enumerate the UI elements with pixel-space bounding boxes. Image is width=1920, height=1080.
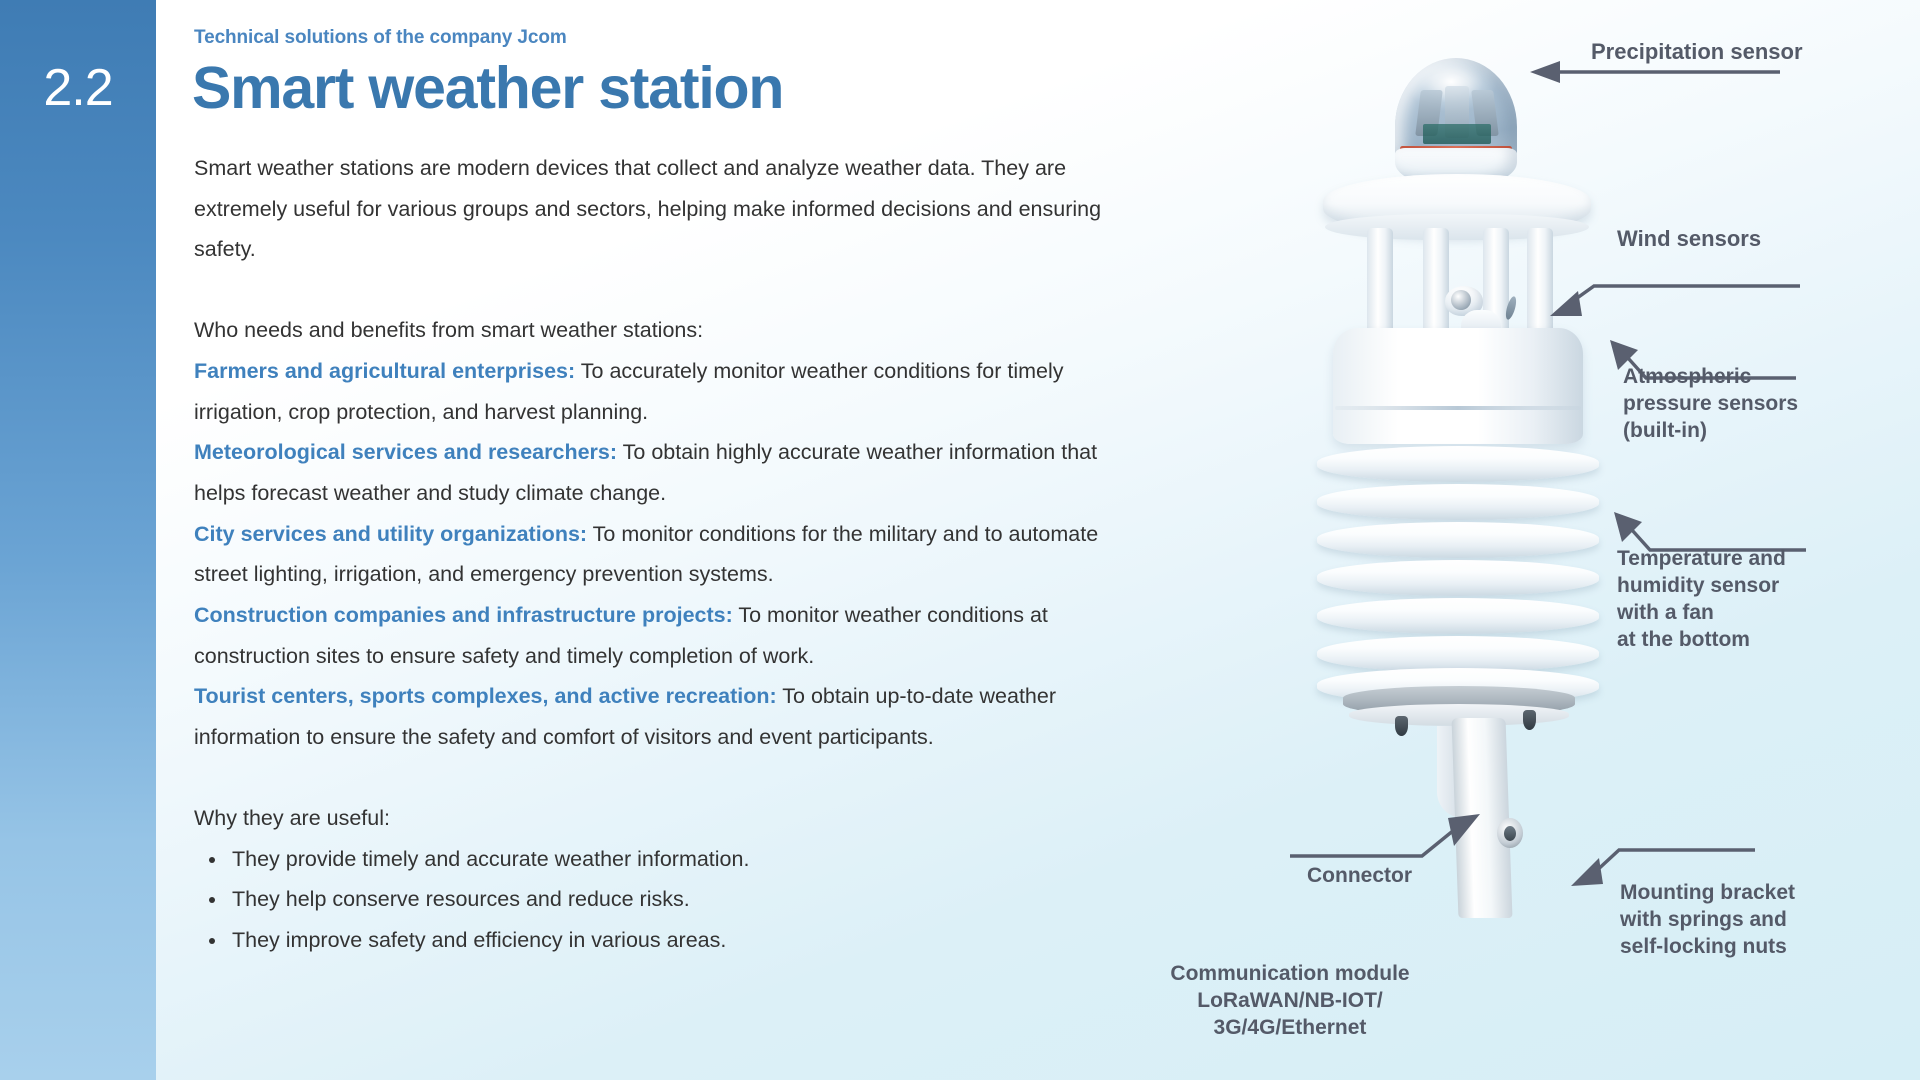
page-title: Smart weather station — [192, 58, 783, 120]
wind-sensor-disc — [1451, 290, 1471, 310]
callout-wind-sensors: Wind sensors — [1617, 225, 1761, 253]
callout-line: pressure sensors — [1623, 390, 1798, 417]
slide-root: 2.2 Technical solutions of the company J… — [0, 0, 1920, 1080]
callout-line: Temperature and — [1617, 545, 1786, 572]
callout-line: 3G/4G/Ethernet — [1130, 1014, 1450, 1041]
list-item: They provide timely and accurate weather… — [194, 839, 1154, 880]
audience-item: Tourist centers, sports complexes, and a… — [194, 676, 1154, 757]
why-heading: Why they are useful: — [194, 798, 1154, 839]
callout-pressure-sensors: Atmospheric pressure sensors (built-in) — [1623, 363, 1798, 444]
callout-line: LoRaWAN/NB-IOT/ — [1130, 987, 1450, 1014]
connector-leader-line — [1290, 814, 1490, 862]
list-item: They improve safety and efficiency in va… — [194, 920, 1154, 961]
list-item: They help conserve resources and reduce … — [194, 879, 1154, 920]
callout-connector: Connector — [1307, 862, 1412, 889]
mounting-bracket-bolt — [1504, 826, 1516, 841]
wind-leader-line — [1550, 282, 1810, 318]
audience-lead: City services and utility organizations: — [194, 522, 587, 546]
callout-line: Mounting bracket — [1620, 879, 1795, 906]
radiation-shield-plate — [1317, 598, 1599, 634]
callout-line: humidity sensor — [1617, 572, 1786, 599]
eyebrow-text: Technical solutions of the company Jcom — [194, 27, 567, 49]
intro-paragraph: Smart weather stations are modern device… — [194, 148, 1154, 270]
callout-temperature-humidity-sensor: Temperature and humidity sensor with a f… — [1617, 545, 1786, 653]
audience-item: Meteorological services and researchers:… — [194, 432, 1154, 513]
audience-lead: Farmers and agricultural enterprises: — [194, 359, 575, 383]
audience-item: Farmers and agricultural enterprises: To… — [194, 351, 1154, 432]
callout-line: Atmospheric — [1623, 363, 1798, 390]
spacer — [194, 270, 1154, 310]
housing-seam — [1335, 406, 1581, 410]
callout-line: at the bottom — [1617, 626, 1786, 653]
callout-line: with a fan — [1617, 599, 1786, 626]
callout-line: (built-in) — [1623, 417, 1798, 444]
callout-communication-module: Communication module LoRaWAN/NB-IOT/ 3G/… — [1130, 960, 1450, 1041]
callout-line: Communication module — [1130, 960, 1450, 987]
radiation-shield-plate — [1317, 560, 1599, 596]
radiation-shield-plate — [1317, 484, 1599, 520]
audience-lead: Meteorological services and researchers: — [194, 440, 617, 464]
who-heading: Who needs and benefits from smart weathe… — [194, 310, 1154, 351]
body-copy: Smart weather stations are modern device… — [194, 148, 1154, 961]
callout-precipitation-sensor: Precipitation sensor — [1591, 38, 1803, 66]
audience-item: City services and utility organizations:… — [194, 514, 1154, 595]
benefit-list: They provide timely and accurate weather… — [194, 839, 1154, 961]
spacer — [194, 758, 1154, 798]
audience-item: Construction companies and infrastructur… — [194, 595, 1154, 676]
callout-line: self-locking nuts — [1620, 933, 1795, 960]
radiation-shield-plate — [1317, 446, 1599, 482]
dome-circuit-board — [1423, 124, 1491, 144]
base-screw — [1395, 716, 1408, 736]
callout-line: with springs and — [1620, 906, 1795, 933]
pressure-sensor-housing — [1333, 328, 1583, 444]
radiation-shield-plate — [1317, 636, 1599, 672]
audience-lead: Construction companies and infrastructur… — [194, 603, 733, 627]
audience-lead: Tourist centers, sports complexes, and a… — [194, 684, 777, 708]
section-number-rail: 2.2 — [0, 0, 156, 1080]
callout-mounting-bracket: Mounting bracket with springs and self-l… — [1620, 879, 1795, 960]
base-screw — [1523, 710, 1536, 730]
radiation-shield-plate — [1317, 522, 1599, 558]
section-number: 2.2 — [0, 62, 156, 114]
